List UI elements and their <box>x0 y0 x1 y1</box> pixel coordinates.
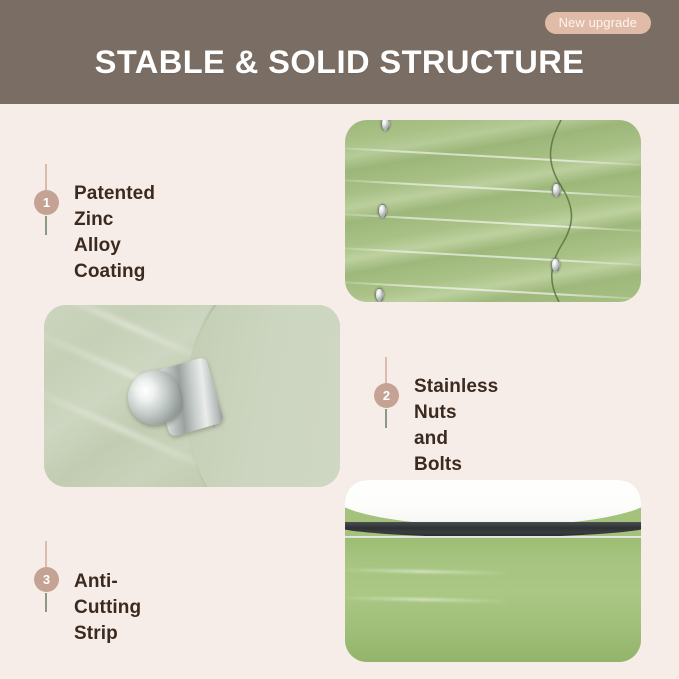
feature-number-badge-3: 3 <box>34 567 59 592</box>
new-upgrade-badge: New upgrade <box>545 12 651 34</box>
white-lid-surface <box>345 480 641 526</box>
dome-nut-assembly <box>126 361 230 437</box>
bolt-head <box>378 204 387 218</box>
connector-line-bottom <box>45 593 47 612</box>
metal-streak <box>345 212 641 233</box>
panel-corrugated-green-metal <box>345 120 641 302</box>
feature-label-2: Stainless Nuts and Bolts <box>414 374 498 478</box>
wavy-seam-line <box>541 120 581 302</box>
panel-chrome-dome-nut <box>44 305 340 487</box>
page-title: STABLE & SOLID STRUCTURE <box>0 44 679 81</box>
bolt-head <box>551 258 560 272</box>
feature-number-badge-1: 1 <box>34 190 59 215</box>
feature-number-badge-2: 2 <box>374 383 399 408</box>
metal-streak <box>345 246 641 267</box>
header-banner: New upgrade STABLE & SOLID STRUCTURE <box>0 0 679 104</box>
connector-line-bottom <box>385 409 387 428</box>
connector-line-top <box>385 357 387 385</box>
connector-line-bottom <box>45 216 47 235</box>
product-feature-infographic: New upgrade STABLE & SOLID STRUCTURE <box>0 0 679 679</box>
connector-line-top <box>45 541 47 569</box>
feature-label-3: Anti-Cutting Strip <box>74 569 141 647</box>
metal-streak <box>345 178 641 199</box>
bolt-head <box>552 183 561 197</box>
bolt-head <box>375 288 384 302</box>
metal-streak <box>345 280 641 301</box>
panel-anti-cutting-strip <box>345 480 641 662</box>
anti-cutting-strip <box>345 522 641 537</box>
metal-streak <box>345 146 641 167</box>
connector-line-top <box>45 164 47 192</box>
bolt-head <box>381 120 390 131</box>
feature-label-1: Patented Zinc Alloy Coating <box>74 181 155 285</box>
